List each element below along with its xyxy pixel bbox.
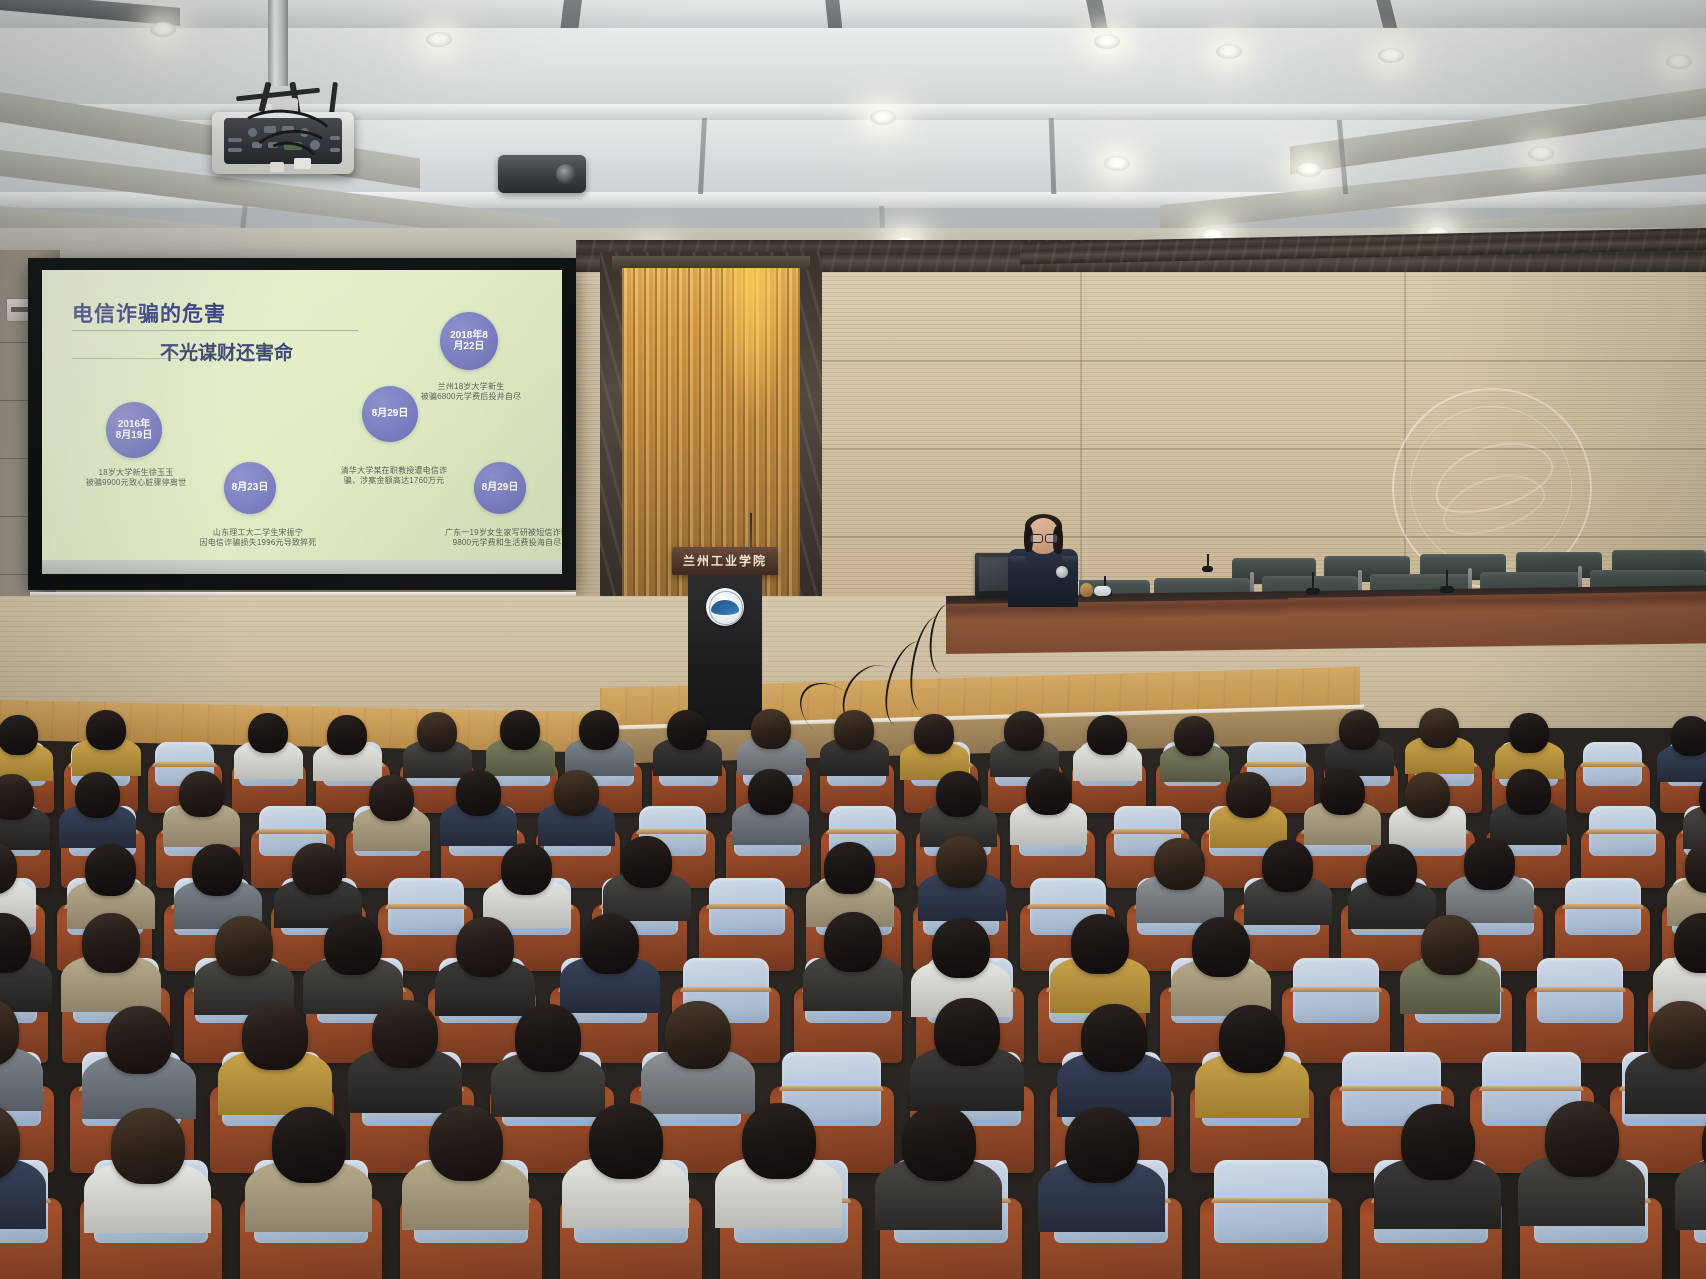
projection-screen[interactable]: 电信诈骗的危害 不光谋财还害命 2016年 8月19日18岁大学新生徐玉玉 被骗… [42, 270, 562, 574]
seat-wood-rim [1211, 1198, 1331, 1203]
audience-member-head [1081, 1004, 1147, 1072]
audience-member-head [936, 836, 987, 888]
seat-wood-rim [1479, 1086, 1584, 1091]
slide-title-rule [72, 330, 358, 331]
recessed-downlight [426, 32, 452, 47]
seat-wood-rim [152, 762, 217, 767]
audience-member-head [1464, 838, 1515, 890]
recessed-downlight [150, 22, 176, 37]
head-table-right [1288, 591, 1706, 646]
desk-item-figurine [1080, 583, 1093, 597]
audience-member-head [936, 771, 981, 817]
seat-wood-rim [1027, 904, 1109, 909]
audience-member-head [272, 1107, 346, 1183]
audience-member-head [75, 772, 120, 818]
seat-wood-rim [680, 987, 772, 992]
audience-member-head [106, 1006, 172, 1074]
audience-member-head [1421, 915, 1479, 975]
audience-member-head [554, 770, 599, 816]
seat-wood-rim [1562, 904, 1644, 909]
audience-member-head [1509, 713, 1549, 753]
audience-member-head [667, 710, 707, 750]
auditorium-seat[interactable] [1200, 1160, 1342, 1279]
recessed-downlight [1216, 44, 1242, 59]
seat-wood-rim [636, 829, 709, 834]
audience-member-head [1192, 917, 1250, 977]
audience-member-head [242, 1002, 308, 1070]
timeline-bubble: 8月29日 [474, 462, 526, 514]
audience-member-head [1366, 844, 1417, 896]
audience-member-head [192, 844, 243, 896]
auditorium-seat[interactable] [1555, 878, 1650, 964]
seat-wood-rim [1111, 829, 1184, 834]
desk-item-cup [1094, 586, 1111, 596]
audience-member-head [82, 913, 140, 973]
audience-member-head [1339, 710, 1379, 750]
audience-member-head [179, 771, 224, 817]
auditorium-seat[interactable] [1576, 742, 1650, 808]
audience-member-head [0, 715, 38, 755]
recessed-downlight [1378, 48, 1404, 63]
audience-member-head [751, 709, 791, 749]
audience-member-head [1071, 914, 1129, 974]
timeline-bubble: 2016年 8月19日 [106, 402, 162, 458]
auditorium-seat[interactable] [1526, 958, 1634, 1056]
audience-member-head [215, 916, 273, 976]
audience-member-head [1262, 840, 1313, 892]
audience-member-head [324, 915, 382, 975]
timeline-caption: 清华大学某在职教授遭电信诈 骗，涉案金额高达1760万元 [304, 466, 484, 486]
seat-wood-rim [1580, 762, 1645, 767]
audience-member-head [456, 770, 501, 816]
audience-member-head [1065, 1107, 1139, 1183]
audience-member-head [1174, 716, 1214, 756]
audience-member-head [1226, 772, 1271, 818]
audience-member-head [579, 710, 619, 750]
seat-wood-rim [826, 829, 899, 834]
audience-member-head [429, 1105, 503, 1181]
audience-member-head [292, 843, 343, 895]
audience-member-head [1671, 716, 1706, 756]
audience-member-head [914, 714, 954, 754]
glasses-icon [1030, 534, 1043, 543]
podium-label: 兰州工业学院 [676, 552, 774, 569]
audience-member-head [834, 710, 874, 750]
audience-member-head [902, 1105, 976, 1181]
timeline-caption: 广东一19岁女生家写研被短信诈骗 9800元学费和生活费投海自尽 [414, 528, 562, 548]
audience-member-head [1649, 1001, 1706, 1069]
audience-member-head [621, 836, 672, 888]
audience-member-head [1419, 708, 1459, 748]
audience-member-head [0, 774, 34, 820]
lecture-hall-photo: 电信诈骗的危害 不光谋财还害命 2016年 8月19日18岁大学新生徐玉玉 被骗… [0, 0, 1706, 1279]
audience-member-head [1087, 715, 1127, 755]
curtain-light-glow [718, 268, 788, 418]
recessed-downlight [870, 110, 896, 125]
audience-member-head [934, 998, 1000, 1066]
glasses-icon [1045, 534, 1058, 543]
audience-member-head [372, 1000, 438, 1068]
projector-lens-icon [556, 164, 576, 184]
audience-member-head [500, 710, 540, 750]
officer-badge-icon [1056, 566, 1068, 578]
recessed-downlight [1094, 34, 1120, 49]
recessed-downlight [1666, 54, 1692, 69]
auditorium-seat[interactable] [699, 878, 794, 964]
timeline-bubble: 2018年8 月22日 [440, 312, 498, 370]
audience-member-head [515, 1004, 581, 1072]
audience-member-head [824, 912, 882, 972]
audience-member-head [456, 917, 514, 977]
seat-wood-rim [1339, 1086, 1444, 1091]
auditorium-seat[interactable] [1581, 806, 1665, 882]
audience-member-head [1026, 769, 1071, 815]
audience-member-head [1320, 769, 1365, 815]
seat-wood-rim [1290, 987, 1382, 992]
audience-member-head [589, 1103, 663, 1179]
seat-wood-rim [779, 1086, 884, 1091]
audience-member-head [369, 775, 414, 821]
recessed-downlight [1296, 162, 1322, 177]
slide-subtitle: 不光谋财还害命 [160, 338, 293, 365]
audience-member-head [327, 715, 367, 755]
auditorium-seat[interactable] [1282, 958, 1390, 1056]
timeline-bubble: 8月23日 [224, 462, 276, 514]
audience-member-head [1506, 769, 1551, 815]
audience-member-head [1154, 838, 1205, 890]
recessed-downlight [1104, 156, 1130, 171]
audience-member-head [665, 1001, 731, 1069]
audience-member-head [1219, 1005, 1285, 1073]
audience-member-head [742, 1103, 816, 1179]
audience-member-head [748, 769, 793, 815]
timeline-caption: 18岁大学新生徐玉玉 被骗9900元致心脏骤停离世 [56, 468, 216, 488]
seat-wood-rim [1586, 829, 1659, 834]
audience-member-head [581, 914, 639, 974]
seat-wood-rim [256, 829, 329, 834]
audience-member-head [111, 1108, 185, 1184]
school-crest-icon [706, 588, 744, 626]
recessed-downlight [1528, 146, 1554, 161]
screen-bottom-strip [42, 560, 562, 574]
audience-member-head [1004, 711, 1044, 751]
seat-wood-rim [1534, 987, 1626, 992]
seat-wood-rim [1244, 762, 1309, 767]
audience-member-head [85, 844, 136, 896]
seat-wood-rim [385, 904, 467, 909]
audience-member-head [1401, 1104, 1475, 1180]
audience-member-head [248, 713, 288, 753]
audience-member-head [1405, 772, 1450, 818]
audience-member-head [824, 842, 875, 894]
timeline-caption: 山东理工大二学生宋振宁 因电信诈骗损失1996元导致猝死 [170, 528, 346, 548]
seat-wood-rim [706, 904, 788, 909]
audience-member-head [1545, 1101, 1619, 1177]
timeline-caption: 兰州18岁大学新生 被骗6800元学费后投井自尽 [390, 382, 552, 402]
audience-member-head [417, 712, 457, 752]
slide-title: 电信诈骗的危害 [72, 298, 226, 328]
audience-member-head [86, 710, 126, 750]
audience-member-head [501, 843, 552, 895]
audience-member-head [932, 918, 990, 978]
